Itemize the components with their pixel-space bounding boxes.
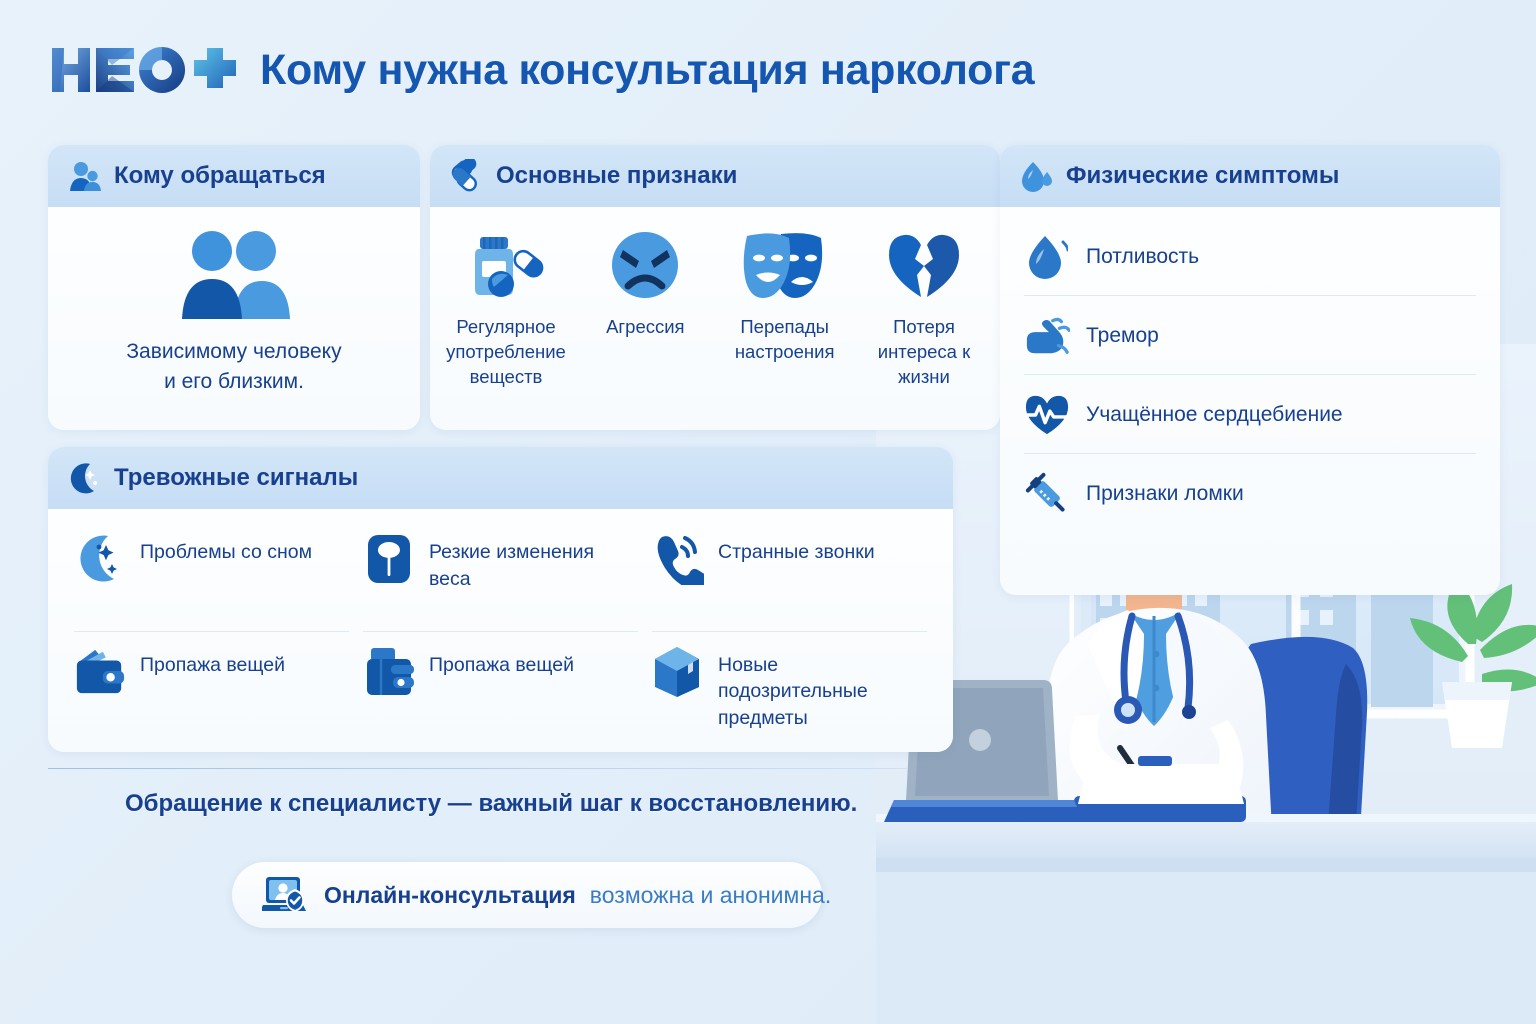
list-item-label: Проблемы со сном [140, 533, 312, 566]
two-people-large-icon [164, 229, 304, 321]
list-item: Потливость [1024, 217, 1476, 296]
list-item: Признаки ломки [1024, 454, 1476, 532]
sign-item: Потеря интереса к жизни [864, 227, 984, 389]
sign-label: Перепады настроения [725, 315, 845, 365]
card-physical-title: Физические симптомы [1066, 162, 1339, 190]
droplet-icon [1024, 234, 1070, 280]
card-signs-title: Основные признаки [496, 162, 737, 190]
card-signs-header: Основные признаки [430, 145, 1000, 207]
online-consultation-strong: Онлайн-консультация [324, 882, 576, 909]
list-item-label: Пропажа вещей [140, 646, 285, 679]
two-people-icon [68, 159, 102, 193]
list-item: Резкие изменения веса [363, 519, 638, 632]
list-item-label: Потливость [1086, 244, 1199, 271]
footer-cta-text: Обращение к специалисту — важный шаг к в… [125, 790, 857, 818]
heart-pulse-icon [1024, 392, 1070, 438]
sign-label: Регулярное употребление веществ [446, 315, 566, 389]
page-header: Кому нужна консультация нарколога [48, 34, 1034, 106]
list-item-label: Тремор [1086, 323, 1159, 350]
list-item-label: Новые подозрительные предметы [718, 646, 927, 732]
sign-label: Потеря интереса к жизни [864, 315, 984, 389]
list-item-label: Признаки ломки [1086, 481, 1244, 508]
wallet-open-icon [74, 646, 126, 698]
card-physical-header: Физические симптомы [1000, 145, 1500, 207]
card-who-title: Кому обращаться [114, 162, 326, 190]
list-item: Учащённое сердцебиение [1024, 375, 1476, 454]
footer-divider [48, 768, 908, 769]
card-who-text-line2: и его близким. [126, 367, 341, 397]
crescent-moon-icon [68, 461, 102, 495]
list-item-label: Странные звонки [718, 533, 875, 566]
list-item-label: Учащённое сердцебиение [1086, 402, 1343, 429]
sign-item: Регулярное употребление веществ [446, 227, 566, 389]
online-consultation-soft: возможна и анонимна. [590, 882, 831, 909]
trembling-hand-icon [1024, 313, 1070, 359]
card-physical-symptoms: Физические симптомы Потливость [1000, 145, 1500, 595]
card-who-text-line1: Зависимому человеку [126, 337, 341, 367]
sign-item: Агрессия [585, 227, 705, 340]
card-alarm-header: Тревожные сигналы [48, 447, 953, 509]
pill-bottle-icon [468, 227, 544, 303]
card-main-signs: Основные признаки Регулярное употреб [430, 145, 1000, 430]
page-title: Кому нужна консультация нарколога [260, 46, 1034, 95]
card-alarm-signals: Тревожные сигналы Проблемы со сном [48, 447, 953, 752]
list-item: Новые подозрительные предметы [652, 632, 927, 752]
sign-label: Агрессия [606, 315, 685, 340]
list-item: Пропажа вещей [363, 632, 638, 752]
sign-item: Перепады настроения [725, 227, 845, 365]
angry-face-icon [608, 227, 682, 303]
card-who-body: Зависимому человеку и его близким. [48, 207, 420, 430]
card-who-header: Кому обращаться [48, 145, 420, 207]
list-item: Пропажа вещей [74, 632, 349, 752]
pills-capsule-icon [450, 159, 484, 193]
card-who-text: Зависимому человеку и его близким. [126, 337, 341, 398]
list-item: Проблемы со сном [74, 519, 349, 632]
list-item: Странные звонки [652, 519, 927, 632]
laptop-verified-icon [262, 871, 310, 919]
crescent-moon-icon [74, 533, 126, 585]
card-physical-body: Потливость Тремор Учащённое сердце [1000, 207, 1500, 595]
water-drops-icon [1020, 159, 1054, 193]
wallet-icon [363, 646, 415, 698]
card-who-to-contact: Кому обращаться Зависимому человеку и ег… [48, 145, 420, 430]
weight-scale-icon [363, 533, 415, 585]
syringe-icon [1024, 471, 1070, 517]
broken-heart-icon [885, 227, 963, 303]
online-consultation-badge: Онлайн-консультация возможна и анонимна. [232, 862, 822, 928]
card-signs-body: Регулярное употребление веществ Агрессия [430, 207, 1000, 430]
phone-call-icon [652, 533, 704, 585]
card-alarm-title: Тревожные сигналы [114, 464, 358, 492]
theater-masks-icon [741, 227, 829, 303]
neo-plus-logo [48, 42, 238, 98]
list-item-label: Пропажа вещей [429, 646, 574, 679]
parcel-box-icon [652, 646, 704, 698]
list-item: Тремор [1024, 296, 1476, 375]
card-alarm-body: Проблемы со сном Резкие изменения веса [48, 509, 953, 752]
list-item-label: Резкие изменения веса [429, 533, 638, 592]
